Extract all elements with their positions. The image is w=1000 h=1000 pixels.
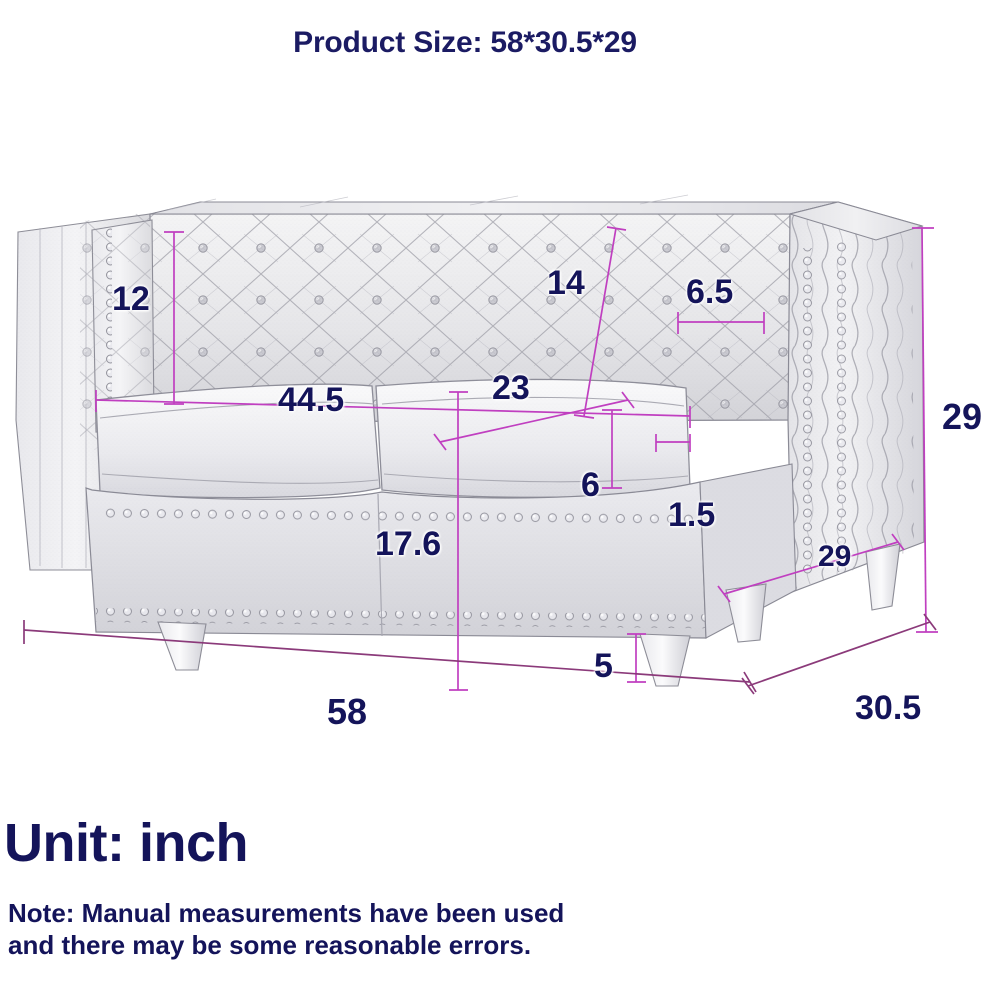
note-block: Note: Manual measurements have been used… [8,898,798,961]
dimension-label-back-inner-height: 14 [547,266,585,300]
sofa-arm-right [780,200,940,600]
dimension-label-total-depth: 30.5 [855,691,921,725]
note-line-2: and there may be some reasonable errors. [8,930,798,962]
dimension-label-gap: 1.5 [668,498,715,532]
dimension-label-arm-width: 6.5 [686,275,733,309]
dimension-label-leg-height: 5 [594,649,613,683]
dimension-label-cushion-height: 6 [581,468,600,502]
dimension-label-total-width: 58 [327,694,367,730]
dimension-label-total-height: 29 [942,399,982,435]
note-line-1: Note: Manual measurements have been used [8,898,798,930]
dimline-30-5 [742,614,936,694]
unit-text: Unit: inch [4,812,248,874]
seat-cushions [96,379,690,497]
sofa-illustration [0,170,1000,700]
dimension-label-backrest-height: 12 [112,282,150,316]
dimension-label-seat-width: 44.5 [278,383,344,417]
dimension-label-depth-side: 29 [818,542,851,572]
diagram-canvas: Product Size: 58*30.5*29 [0,0,1000,1000]
page-title: Product Size: 58*30.5*29 [0,26,930,60]
dimension-label-seat-height: 17.6 [375,527,441,561]
dimension-label-seat-depth: 23 [492,371,530,405]
